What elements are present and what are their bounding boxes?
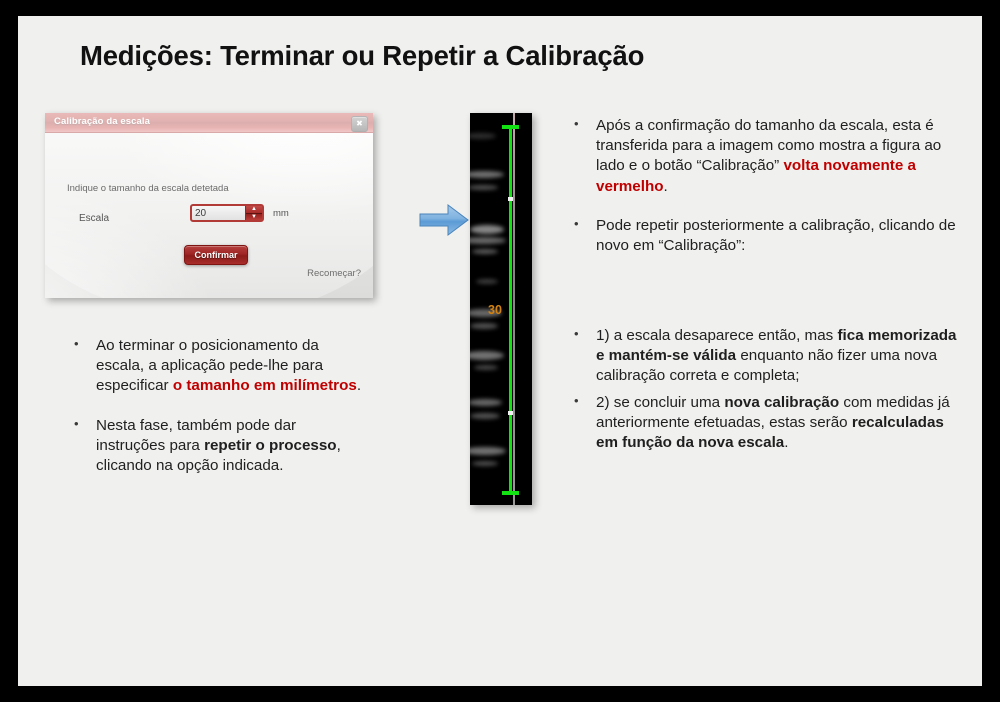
left-bullet-list: Ao terminar o posicionamento da escala, …: [68, 336, 368, 495]
list-item-text: 2) se concluir uma: [596, 394, 724, 411]
dialog-instruction-text: Indique o tamanho da escala detetada: [67, 183, 229, 194]
list-item: 1) a escala desaparece então, mas fica m…: [568, 326, 968, 387]
list-item-text: Pode repetir posteriormente a calibração…: [596, 217, 956, 254]
list-item: Pode repetir posteriormente a calibração…: [568, 216, 968, 256]
scale-tick: [509, 275, 512, 278]
calibration-dialog: Calibração da escala ✖ Indique o tamanho…: [45, 113, 373, 298]
unit-label: mm: [273, 208, 289, 219]
close-icon[interactable]: ✖: [351, 116, 368, 132]
scale-tick: [509, 353, 512, 356]
spinner-buttons[interactable]: ▲ ▼: [245, 206, 262, 220]
dialog-titlebar: Calibração da escala ✖: [45, 113, 373, 133]
scale-tick: [508, 411, 513, 415]
chevron-down-icon[interactable]: ▼: [246, 214, 262, 221]
dialog-title: Calibração da escala: [54, 116, 150, 127]
right-arrow-icon: [418, 202, 470, 238]
list-item-text: .: [784, 434, 788, 451]
slide-canvas: Medições: Terminar ou Repetir a Calibraç…: [18, 16, 982, 686]
page-title: Medições: Terminar ou Repetir a Calibraç…: [80, 40, 900, 72]
right-bullet-list-bottom: 1) a escala desaparece então, mas fica m…: [568, 326, 968, 459]
dialog-body: Indique o tamanho da escala detetada Esc…: [45, 133, 373, 298]
list-item-text: .: [357, 377, 361, 394]
list-item-text: nova calibração: [724, 394, 839, 411]
quantity-stepper[interactable]: ▲ ▼: [190, 204, 264, 222]
scale-tick: [508, 197, 513, 201]
right-bullet-list-top: Após a confirmação do tamanho da escala,…: [568, 116, 968, 275]
list-item: Nesta fase, também pode dar instruções p…: [68, 416, 368, 477]
scale-cap-top: [502, 125, 519, 129]
ultrasound-image: 30: [470, 113, 532, 505]
list-item-text: 1) a escala desaparece então, mas: [596, 327, 837, 344]
list-item-text: o tamanho em milímetros: [173, 377, 357, 394]
scale-cap-bottom: [502, 491, 519, 495]
confirm-button[interactable]: Confirmar: [184, 245, 248, 265]
scale-input[interactable]: [192, 206, 248, 220]
list-item: Após a confirmação do tamanho da escala,…: [568, 116, 968, 197]
list-item-text: .: [664, 178, 668, 195]
list-item: 2) se concluir uma nova calibração com m…: [568, 393, 968, 454]
list-item-text: repetir o processo: [204, 437, 337, 454]
scale-line: [509, 125, 512, 495]
restart-link[interactable]: Recomeçar?: [307, 268, 361, 279]
list-item: Ao terminar o posicionamento da escala, …: [68, 336, 368, 397]
chevron-up-icon[interactable]: ▲: [246, 206, 262, 214]
depth-label: 30: [488, 303, 502, 317]
probe-line: [513, 113, 515, 505]
scale-field-label: Escala: [79, 213, 109, 224]
slide-frame: Medições: Terminar ou Repetir a Calibraç…: [0, 0, 1000, 702]
